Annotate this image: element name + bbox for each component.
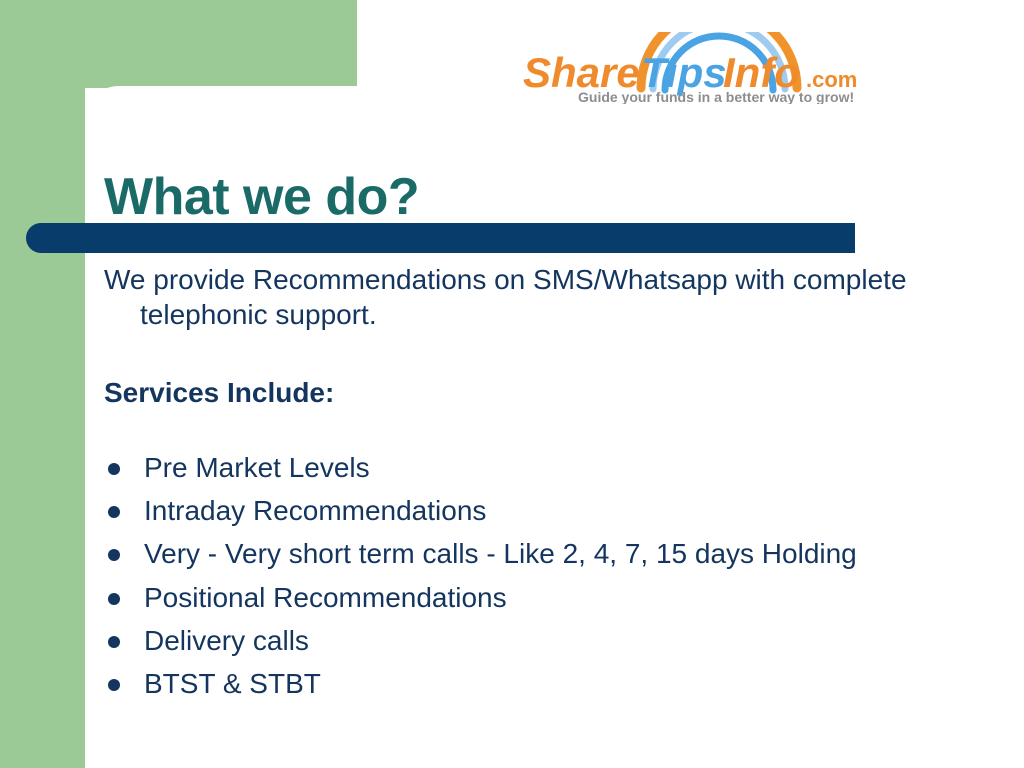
list-item-label: Very - Very short term calls - Like 2, 4… xyxy=(144,538,857,569)
list-item: Delivery calls xyxy=(104,623,984,658)
slide-body: We provide Recommendations on SMS/Whatsa… xyxy=(104,262,984,709)
bullet-icon xyxy=(108,593,120,605)
bullet-icon xyxy=(108,506,120,518)
list-item: BTST & STBT xyxy=(104,666,984,701)
green-left-strip xyxy=(0,0,85,768)
bullet-icon xyxy=(108,463,120,475)
bullet-icon xyxy=(108,549,120,561)
list-item-label: Intraday Recommendations xyxy=(144,495,486,526)
title-underline-bar xyxy=(26,223,855,253)
list-item-label: Positional Recommendations xyxy=(144,582,507,613)
list-item-label: Pre Market Levels xyxy=(144,452,370,483)
list-item: Very - Very short term calls - Like 2, 4… xyxy=(104,536,984,571)
page-title: What we do? xyxy=(104,169,419,226)
bullet-icon xyxy=(108,636,120,648)
bullet-icon xyxy=(108,679,120,691)
slide-canvas: Share Tips Info .com Guide your funds in… xyxy=(0,0,1024,768)
services-list: Pre Market Levels Intraday Recommendatio… xyxy=(104,410,984,702)
list-item-label: BTST & STBT xyxy=(144,668,321,699)
services-heading: Services Include: xyxy=(104,333,984,410)
list-item: Pre Market Levels xyxy=(104,450,984,485)
list-item: Positional Recommendations xyxy=(104,580,984,615)
logo-tagline: Guide your funds in a better way to grow… xyxy=(578,89,854,104)
list-item-label: Delivery calls xyxy=(144,625,309,656)
intro-paragraph: We provide Recommendations on SMS/Whatsa… xyxy=(104,262,984,333)
sharetipsinfo-logo: Share Tips Info .com Guide your funds in… xyxy=(523,32,923,104)
list-item: Intraday Recommendations xyxy=(104,493,984,528)
